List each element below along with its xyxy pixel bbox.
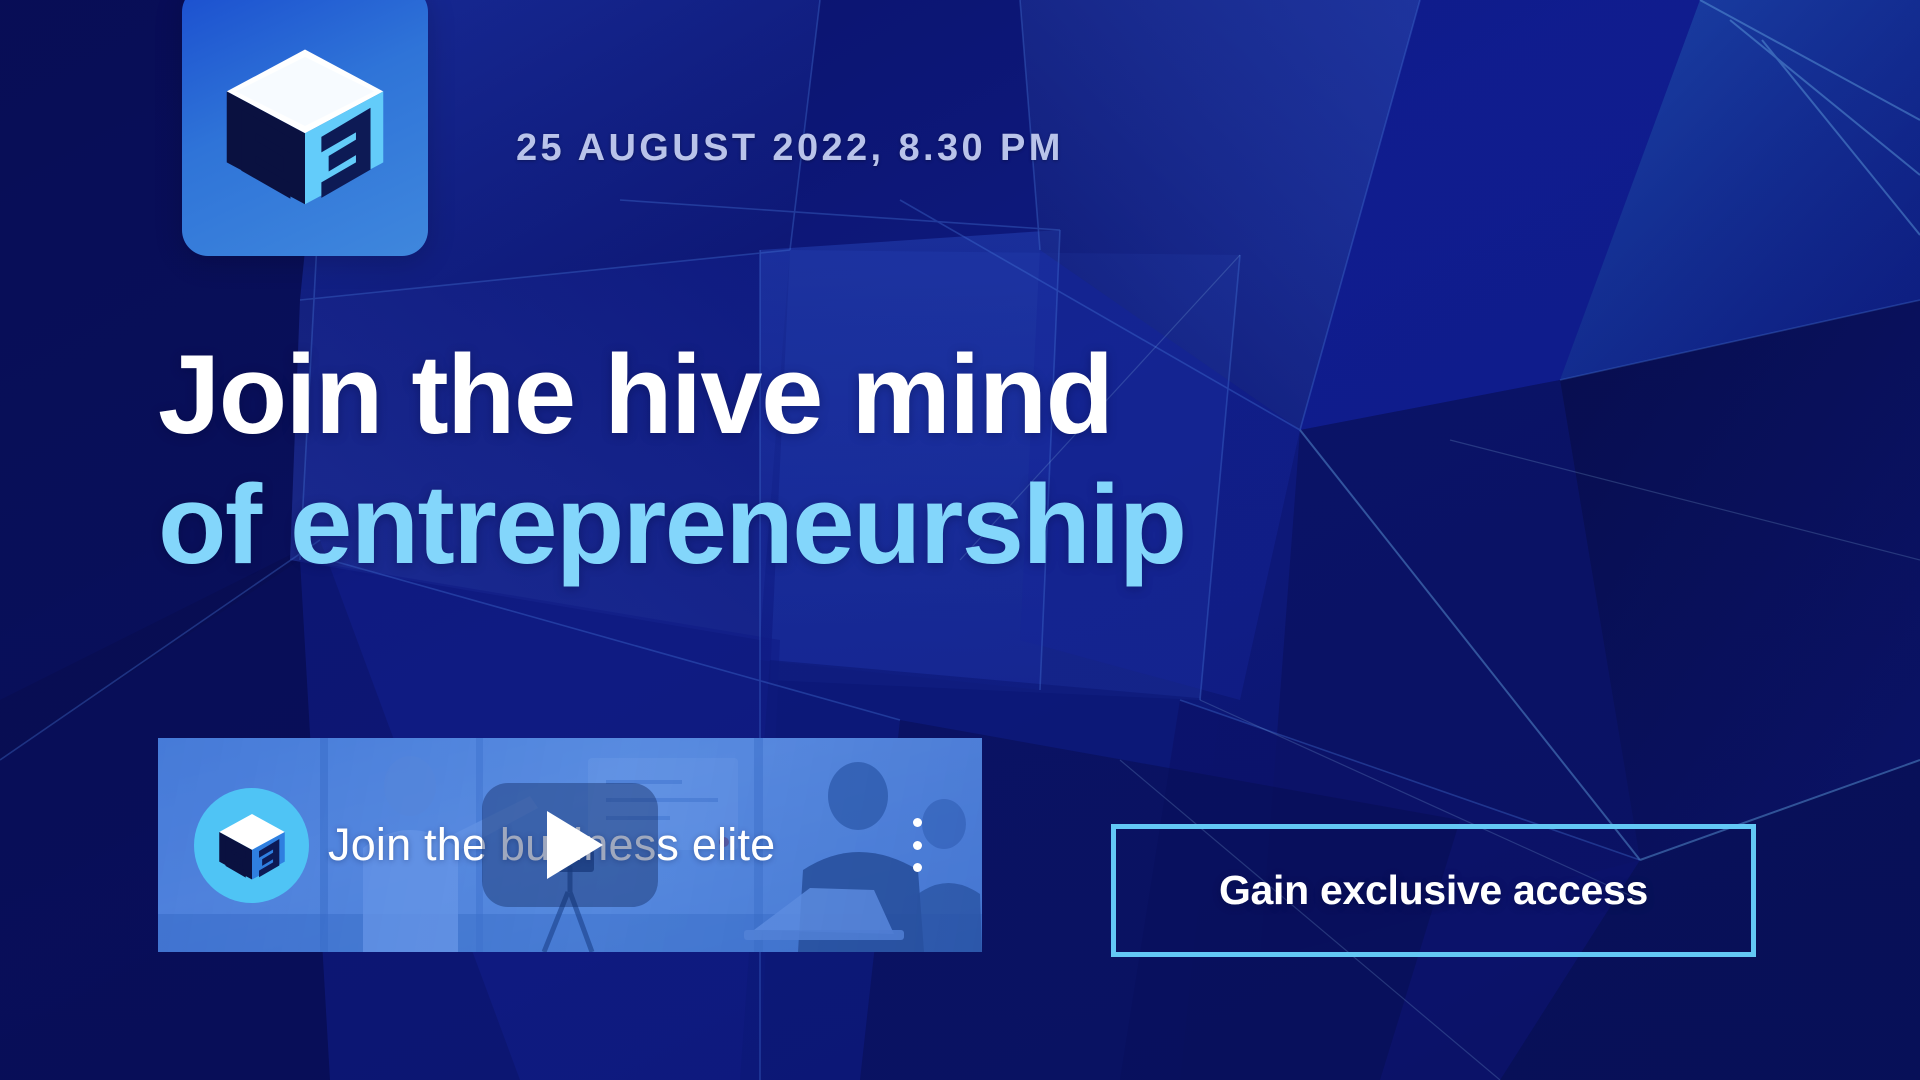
brand-logo-tile[interactable]: [182, 0, 428, 256]
channel-avatar[interactable]: [194, 788, 309, 903]
kebab-dot-1: [913, 818, 922, 827]
gain-exclusive-access-button[interactable]: Gain exclusive access: [1111, 824, 1756, 957]
kebab-menu-icon[interactable]: [912, 818, 922, 872]
cta-button-label: Gain exclusive access: [1219, 867, 1648, 914]
headline-line-1: Join the hive mind: [158, 330, 1458, 460]
kebab-dot-3: [913, 863, 922, 872]
headline-line-2: of entrepreneurship: [158, 460, 1458, 590]
event-datetime: 25 AUGUST 2022, 8.30 PM: [516, 127, 1064, 170]
play-button[interactable]: [482, 783, 658, 907]
kebab-dot-2: [913, 841, 922, 850]
video-preview-card[interactable]: Join the business elite: [158, 738, 982, 952]
isometric-cube-e-logo-icon: [214, 35, 396, 217]
headline: Join the hive mind of entrepreneurship: [158, 330, 1458, 590]
play-triangle-icon: [547, 811, 603, 879]
event-promo-banner: 25 AUGUST 2022, 8.30 PM Join the hive mi…: [0, 0, 1920, 1080]
cube-logo-avatar-icon: [213, 807, 291, 885]
